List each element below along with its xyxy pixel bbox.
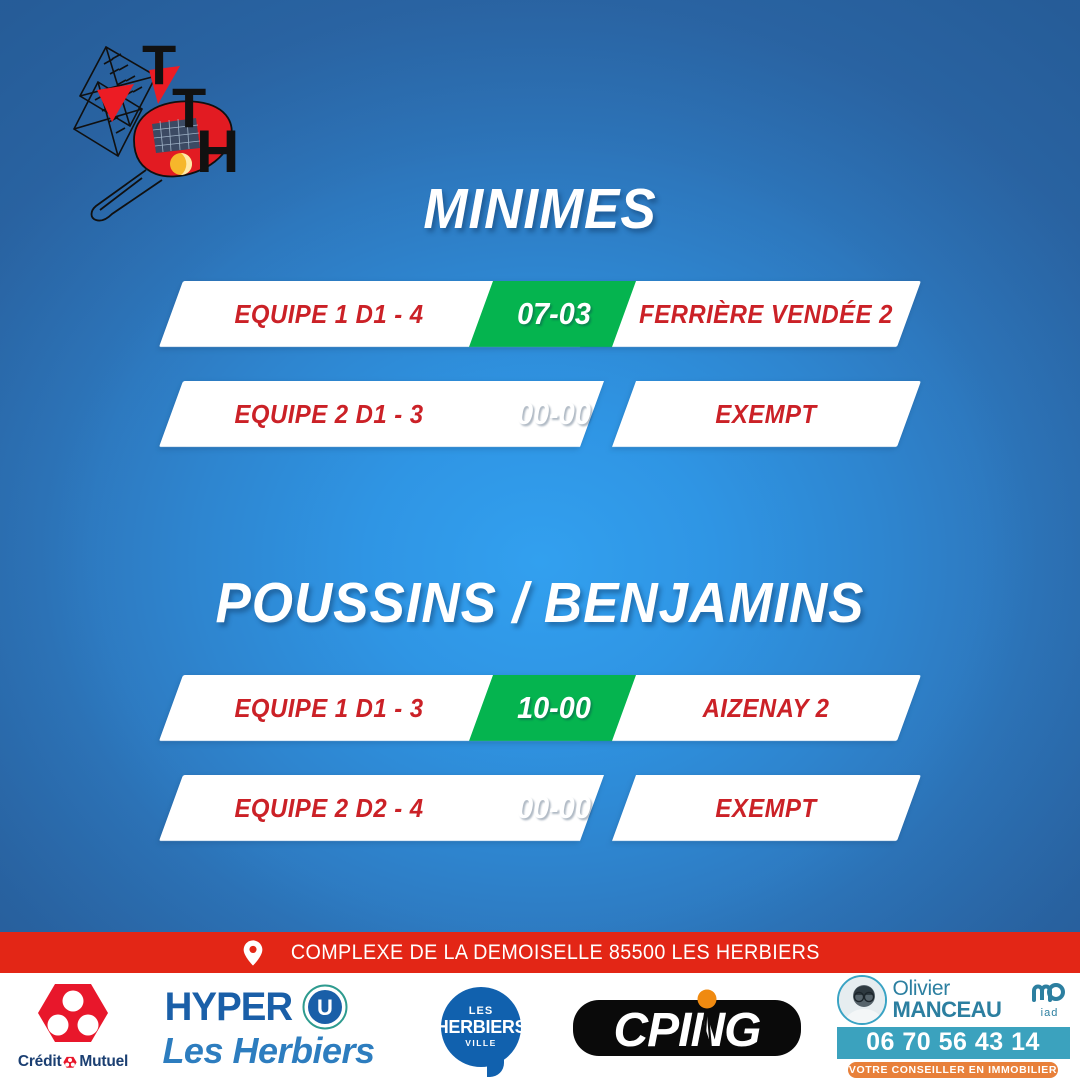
credit-mutuel-wordmark: Crédit Mutuel (18, 1053, 128, 1071)
les-herbiers-line1: LES (469, 1005, 493, 1017)
away-panel (612, 675, 921, 741)
les-herbiers-bubble-icon: LES HERBIERS VILLE (441, 987, 521, 1067)
hyper-u-les-herbiers-text: Les Herbiers (162, 1033, 374, 1069)
credit-mutuel-word2: Mutuel (79, 1053, 128, 1071)
venue-address-bar: COMPLEXE DE LA DEMOISELLE 85500 LES HERB… (0, 932, 1080, 973)
section-minimes: MINIMES EQUIPE 1 D1 - 4 07-03 FERRIÈRE V… (0, 176, 1080, 447)
match-row[interactable]: EQUIPE 1 D1 - 3 10-00 AIZENAY 2 (171, 675, 909, 741)
match-row-shape (159, 775, 921, 841)
section-title: MINIMES (38, 176, 1042, 242)
credit-mutuel-word1: Crédit (18, 1053, 62, 1071)
match-row[interactable]: EQUIPE 1 D1 - 4 07-03 FERRIÈRE VENDÉE 2 (171, 281, 909, 347)
hyper-u-hyper-text: HYPER (165, 987, 293, 1027)
location-pin-icon (243, 940, 263, 966)
les-herbiers-line3: VILLE (465, 1038, 497, 1048)
sponsor-credit-mutuel[interactable]: Crédit Mutuel (0, 973, 146, 1080)
score-block (469, 775, 638, 841)
sponsor-cping[interactable]: CPING (571, 973, 826, 1080)
hyper-u-badge-icon: U (302, 984, 348, 1030)
agent-tagline: VOTRE CONSEILLER EN IMMOBILIER (848, 1062, 1058, 1078)
score-block (469, 281, 638, 347)
away-panel (612, 381, 921, 447)
iad-brand-icon (1030, 982, 1070, 1004)
svg-text:CPING: CPING (613, 1004, 760, 1057)
agent-first-name: Olivier (893, 978, 1024, 999)
sponsor-bar: Crédit Mutuel HYPER U Les He (0, 973, 1080, 1080)
agent-last-name: MANCEAU (893, 999, 1024, 1021)
section-title: POUSSINS / BENJAMINS (38, 570, 1042, 636)
match-row-shape (159, 381, 921, 447)
section-poussins-benjamins: POUSSINS / BENJAMINS EQUIPE 1 D1 - 3 10-… (0, 570, 1080, 841)
cping-logo-icon: CPING (571, 988, 803, 1060)
match-row-shape (159, 675, 921, 741)
svg-text:H: H (196, 118, 238, 185)
iad-brand-label: iad (1030, 1007, 1070, 1019)
match-row-shape (159, 281, 921, 347)
sponsor-iad-olivier-manceau[interactable]: Olivier MANCEAU iad 06 70 56 43 14 VOTRE… (826, 973, 1080, 1080)
score-block (469, 381, 638, 447)
away-panel (612, 775, 921, 841)
sponsor-les-herbiers-ville[interactable]: LES HERBIERS VILLE (391, 973, 571, 1080)
agent-avatar (837, 975, 887, 1025)
score-block (469, 675, 638, 741)
svg-text:U: U (317, 995, 333, 1020)
away-panel (612, 281, 921, 347)
sponsor-hyper-u[interactable]: HYPER U Les Herbiers (146, 973, 391, 1080)
agent-phone-number[interactable]: 06 70 56 43 14 (837, 1027, 1070, 1059)
match-row[interactable]: EQUIPE 2 D2 - 4 00-00 EXEMPT (171, 775, 909, 841)
les-herbiers-line2: HERBIERS (436, 1017, 527, 1038)
match-row[interactable]: EQUIPE 2 D1 - 3 00-00 EXEMPT (171, 381, 909, 447)
venue-address-label: COMPLEXE DE LA DEMOISELLE 85500 LES HERB… (291, 941, 820, 965)
credit-mutuel-mini-icon (63, 1056, 77, 1069)
credit-mutuel-icon (36, 982, 110, 1046)
